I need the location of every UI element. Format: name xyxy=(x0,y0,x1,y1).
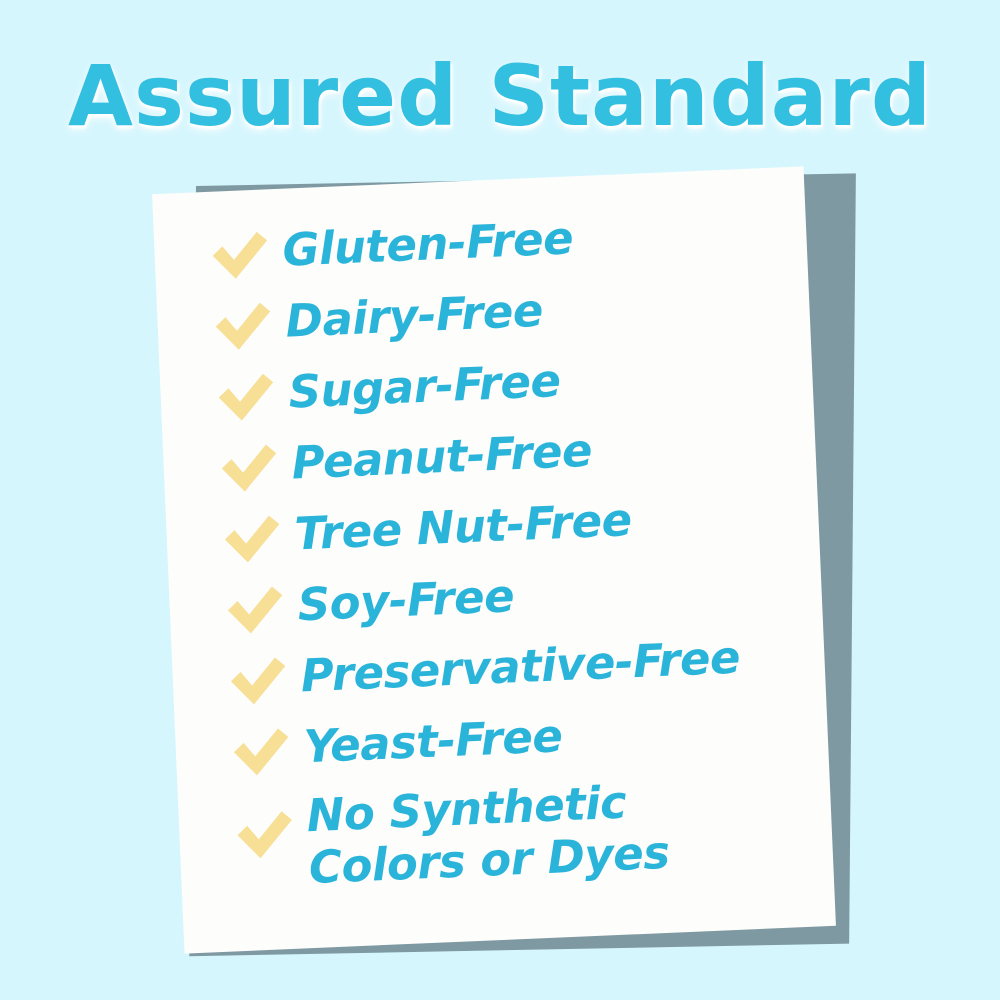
check-mark-icon xyxy=(229,720,294,785)
check-mark-icon xyxy=(214,365,279,430)
check-mark-icon xyxy=(223,578,288,643)
paper-card: Gluten-Free Dairy-Free xyxy=(152,166,836,953)
check-mark-icon xyxy=(210,294,275,359)
list-item-label: Yeast-Free xyxy=(303,706,564,775)
checklist: Gluten-Free Dairy-Free xyxy=(207,199,816,904)
list-item: No Synthetic Colors or Dyes xyxy=(232,767,816,898)
list-item-label: Soy-Free xyxy=(296,566,515,633)
check-mark-icon xyxy=(217,436,282,501)
paper-card-wrapper: Gluten-Free Dairy-Free xyxy=(0,0,1000,1000)
check-mark-icon xyxy=(207,223,272,288)
list-item-label: Sugar-Free xyxy=(287,351,561,421)
list-item-label: Dairy-Free xyxy=(284,281,544,350)
assured-standard-poster: Assured Standard Gluten-Free xyxy=(0,0,1000,1000)
list-item-label: Gluten-Free xyxy=(281,208,574,278)
list-item-label: Preservative-Free xyxy=(300,628,742,705)
list-item-label: No Synthetic Colors or Dyes xyxy=(306,773,671,894)
list-item-label: Peanut-Free xyxy=(290,421,593,492)
check-mark-icon xyxy=(220,507,285,572)
check-mark-icon xyxy=(232,803,297,868)
list-item-label: Tree Nut-Free xyxy=(293,490,632,562)
check-mark-icon xyxy=(226,649,291,714)
